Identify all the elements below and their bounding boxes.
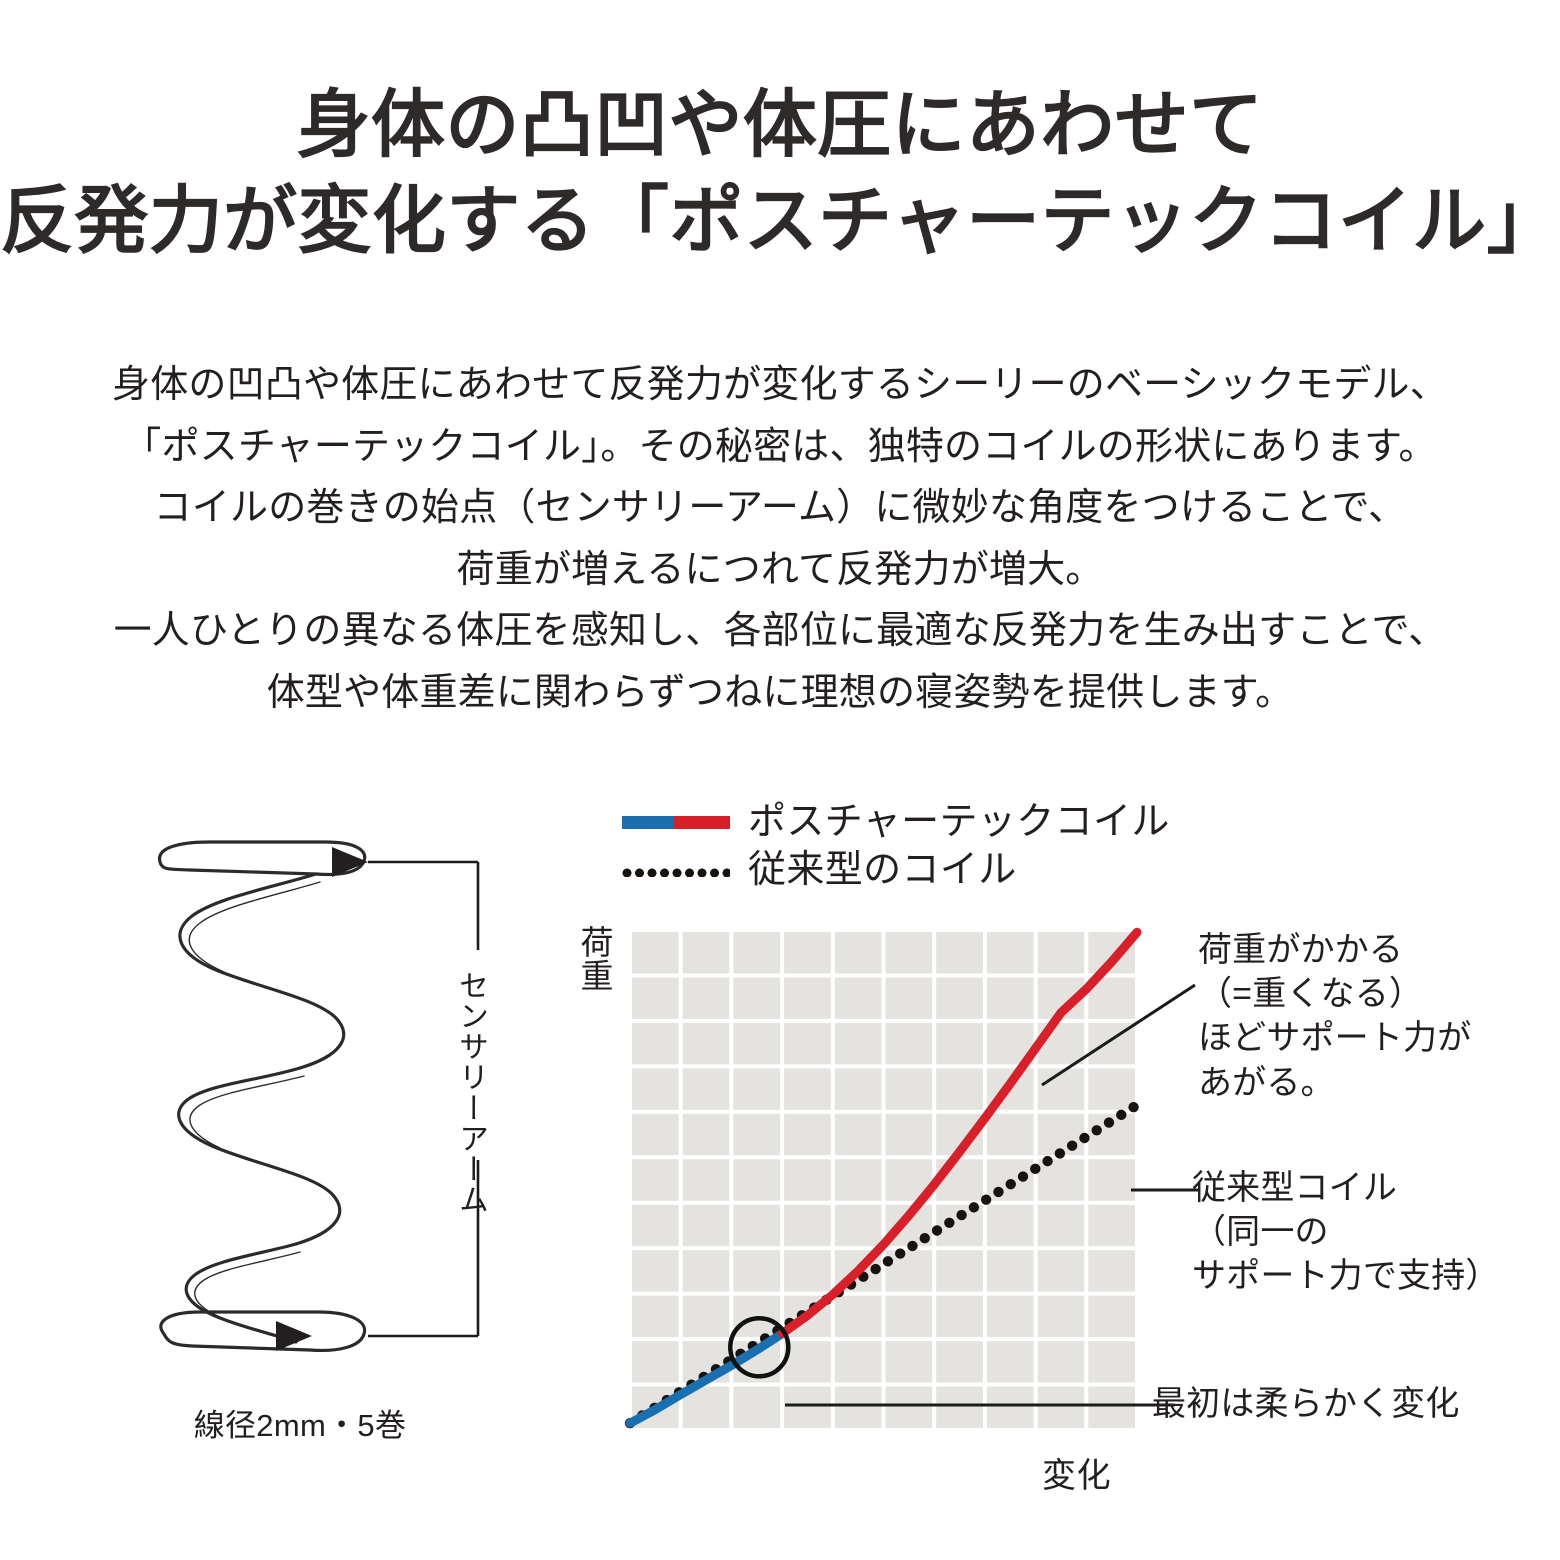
chart-x-axis-label: 変化 [1042, 1448, 1111, 1497]
intro-paragraph: 身体の凹凸や体圧にあわせて反発力が変化するシーリーのベーシックモデル、 「ポスチ… [40, 355, 1520, 724]
spring-caption: 線径2mm・5巻 [120, 1400, 480, 1445]
legend-label-posturetech: ポスチャーテックコイル [748, 803, 1170, 841]
coil-spring-illustration: センサリーアーム 線径2mm・5巻 [120, 830, 540, 1490]
chart-y-axis-label: 荷重 [568, 925, 612, 992]
legend-swatch-solid-icon [622, 816, 730, 829]
callout-conventional-coil: 従来型コイル （同一の サポート力で支持） [1192, 1166, 1552, 1299]
legend-item-conventional: 従来型のコイル [622, 846, 1242, 894]
arrow-bottom-icon [276, 1321, 312, 1351]
arrow-top-icon [332, 847, 368, 877]
callout-support-force: 荷重がかかる （=重くなる） ほどサポート力が あがる。 [1198, 928, 1548, 1105]
legend-swatch-dotted-icon [622, 864, 730, 877]
legend-item-posturetech: ポスチャーテックコイル [622, 798, 1242, 846]
page-title: 身体の凸凹や体圧にあわせて 反発力が変化する「ポスチャーテックコイル」 [0, 78, 1560, 270]
chart-legend: ポスチャーテックコイル 従来型のコイル [622, 798, 1242, 894]
callout-soft-start: 最初は柔らかく変化 [1152, 1382, 1552, 1426]
chart-grid [630, 930, 1137, 1430]
legend-label-conventional: 従来型のコイル [748, 851, 1017, 889]
sensory-arm-label: センサリーアーム [442, 970, 486, 1215]
